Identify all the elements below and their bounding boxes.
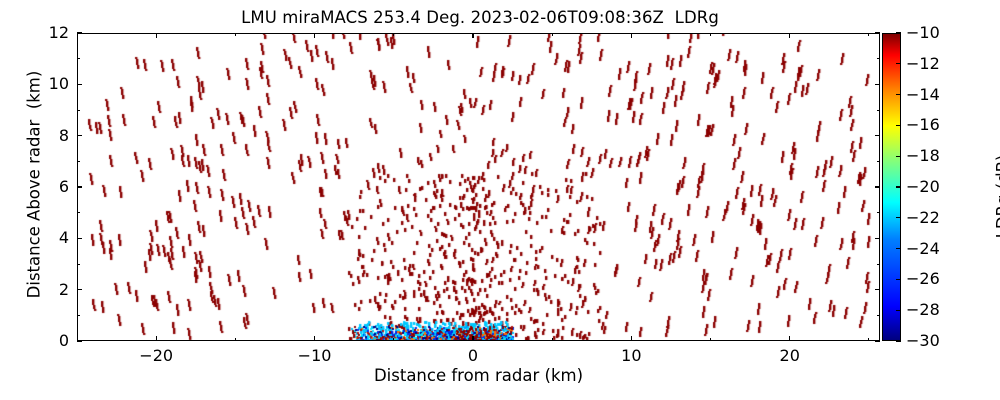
x-tick-mark	[631, 33, 632, 38]
y-tick-mark	[875, 84, 880, 85]
colorbar-tick-label: −30	[906, 332, 962, 350]
y-minor-tick	[877, 264, 880, 265]
x-tick-mark	[631, 336, 632, 341]
x-tick-mark	[472, 33, 473, 38]
x-minor-tick	[552, 33, 553, 36]
plot-axes	[77, 33, 880, 341]
y-tick-mark	[77, 32, 82, 33]
colorbar-tick-label: −16	[906, 116, 962, 134]
y-tick-mark	[77, 238, 82, 239]
x-minor-tick	[235, 33, 236, 36]
x-minor-tick	[868, 338, 869, 341]
colorbar-tick-mark	[896, 279, 901, 280]
x-tick-mark	[472, 336, 473, 341]
x-tick-mark	[314, 33, 315, 38]
colorbar-tick-label: −14	[906, 86, 962, 104]
x-tick-mark	[789, 33, 790, 38]
x-minor-tick	[235, 338, 236, 341]
y-minor-tick	[77, 110, 80, 111]
x-minor-tick	[393, 33, 394, 36]
y-tick-mark	[77, 289, 82, 290]
x-tick-mark	[156, 33, 157, 38]
x-minor-tick	[710, 338, 711, 341]
x-tick-label: 20	[755, 347, 825, 365]
y-tick-mark	[875, 238, 880, 239]
x-minor-tick	[868, 33, 869, 36]
y-minor-tick	[77, 58, 80, 59]
colorbar-tick-mark	[896, 94, 901, 95]
y-tick-mark	[77, 186, 82, 187]
y-minor-tick	[77, 264, 80, 265]
scatter-data-layer	[78, 34, 880, 341]
y-tick-mark	[77, 135, 82, 136]
colorbar-tick-label: −22	[906, 209, 962, 227]
y-tick-mark	[77, 84, 82, 85]
y-minor-tick	[877, 315, 880, 316]
colorbar-tick-mark	[896, 32, 901, 33]
x-minor-tick	[710, 33, 711, 36]
colorbar-tick-mark	[896, 125, 901, 126]
colorbar-tick-label: −24	[906, 240, 962, 258]
radar-rhi-figure: LMU miraMACS 253.4 Deg. 2023-02-06T09:08…	[0, 0, 1000, 400]
colorbar-tick-label: −10	[906, 24, 962, 42]
y-axis-label: Distance Above radar (km)	[25, 30, 44, 340]
y-minor-tick	[877, 161, 880, 162]
y-minor-tick	[77, 315, 80, 316]
y-minor-tick	[877, 212, 880, 213]
y-tick-mark	[875, 32, 880, 33]
x-tick-mark	[314, 336, 315, 341]
colorbar-tick-mark	[896, 186, 901, 187]
x-tick-mark	[156, 336, 157, 341]
colorbar-tick-mark	[896, 63, 901, 64]
x-tick-label: −20	[121, 347, 191, 365]
colorbar-tick-label: −12	[906, 55, 962, 73]
x-minor-tick	[393, 338, 394, 341]
x-minor-tick	[552, 338, 553, 341]
page-title: LMU miraMACS 253.4 Deg. 2023-02-06T09:08…	[0, 8, 960, 28]
x-axis-label: Distance from radar (km)	[77, 366, 880, 385]
y-tick-mark	[875, 186, 880, 187]
colorbar-tick-label: −20	[906, 178, 962, 196]
colorbar-tick-label: −18	[906, 147, 962, 165]
colorbar-label: LDRg (dB)	[994, 87, 1000, 307]
y-tick-mark	[875, 289, 880, 290]
colorbar-tick-mark	[896, 156, 901, 157]
y-tick-mark	[875, 340, 880, 341]
colorbar-tick-label: −28	[906, 301, 962, 319]
y-minor-tick	[877, 110, 880, 111]
y-minor-tick	[877, 58, 880, 59]
y-minor-tick	[77, 161, 80, 162]
y-minor-tick	[77, 212, 80, 213]
x-tick-label: −10	[280, 347, 350, 365]
colorbar-tick-mark	[896, 340, 901, 341]
x-tick-mark	[789, 336, 790, 341]
y-tick-mark	[875, 135, 880, 136]
x-tick-label: 0	[438, 347, 508, 365]
colorbar-tick-mark	[896, 248, 901, 249]
colorbar-tick-mark	[896, 217, 901, 218]
colorbar-tick-label: −26	[906, 270, 962, 288]
colorbar-tick-mark	[896, 310, 901, 311]
y-tick-mark	[77, 340, 82, 341]
x-tick-label: 10	[596, 347, 666, 365]
